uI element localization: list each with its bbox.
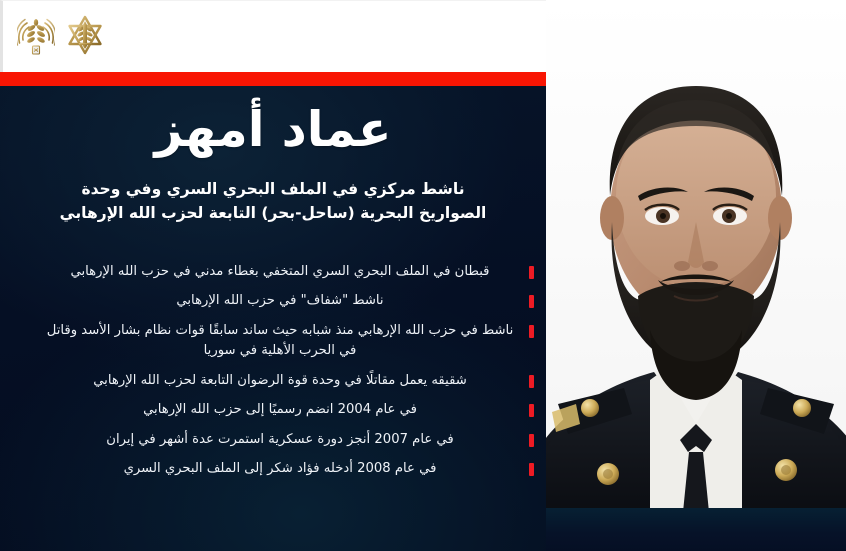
list-item-label: في عام 2004 انضم رسميًا إلى حزب الله الإ… (40, 400, 520, 420)
red-accent-rule (0, 72, 546, 86)
list-item: في عام 2008 أدخله فؤاد شكر إلى الملف الب… (40, 459, 534, 479)
page-subtitle: ناشط مركزي في الملف البحري السري وفي وحد… (0, 178, 546, 225)
fact-list: قبطان في الملف البحري السري المتخفي بغطا… (0, 262, 546, 489)
list-item: ناشط "شفاف" في حزب الله الإرهابي (40, 291, 534, 311)
list-item-label: شقيقه يعمل مقاتلًا في وحدة قوة الرضوان ا… (40, 371, 520, 391)
bullet-marker-icon (529, 325, 534, 338)
list-item-label: ناشط "شفاف" في حزب الله الإرهابي (40, 291, 520, 311)
portrait-photo (546, 0, 846, 512)
list-item-label: في عام 2008 أدخله فؤاد شكر إلى الملف الب… (40, 459, 520, 479)
bullet-marker-icon (529, 434, 534, 447)
list-item: شقيقه يعمل مقاتلًا في وحدة قوة الرضوان ا… (40, 371, 534, 391)
bullet-marker-icon (529, 295, 534, 308)
bullet-marker-icon (529, 375, 534, 388)
header-band (0, 0, 546, 72)
idf-emblem-logo (63, 13, 107, 57)
logo-row (17, 13, 107, 57)
bullet-marker-icon (529, 266, 534, 279)
bullet-marker-icon (529, 463, 534, 476)
list-item: قبطان في الملف البحري السري المتخفي بغطا… (40, 262, 534, 282)
list-item: في عام 2004 انضم رسميًا إلى حزب الله الإ… (40, 400, 534, 420)
list-item-label: في عام 2007 أنجز دورة عسكرية استمرت عدة … (40, 430, 520, 450)
infographic-canvas: عماد أمهز ناشط مركزي في الملف البحري الس… (0, 0, 846, 551)
list-item-label: ناشط في حزب الله الإرهابي منذ شبابه حيث … (40, 321, 520, 362)
idf-spokesperson-unit-logo (17, 13, 55, 57)
list-item: ناشط في حزب الله الإرهابي منذ شبابه حيث … (40, 321, 534, 362)
portrait-photo-graphic (546, 0, 846, 512)
bullet-marker-icon (529, 404, 534, 417)
list-item: في عام 2007 أنجز دورة عسكرية استمرت عدة … (40, 430, 534, 450)
list-item-label: قبطان في الملف البحري السري المتخفي بغطا… (40, 262, 520, 282)
page-title: عماد أمهز (0, 104, 546, 156)
